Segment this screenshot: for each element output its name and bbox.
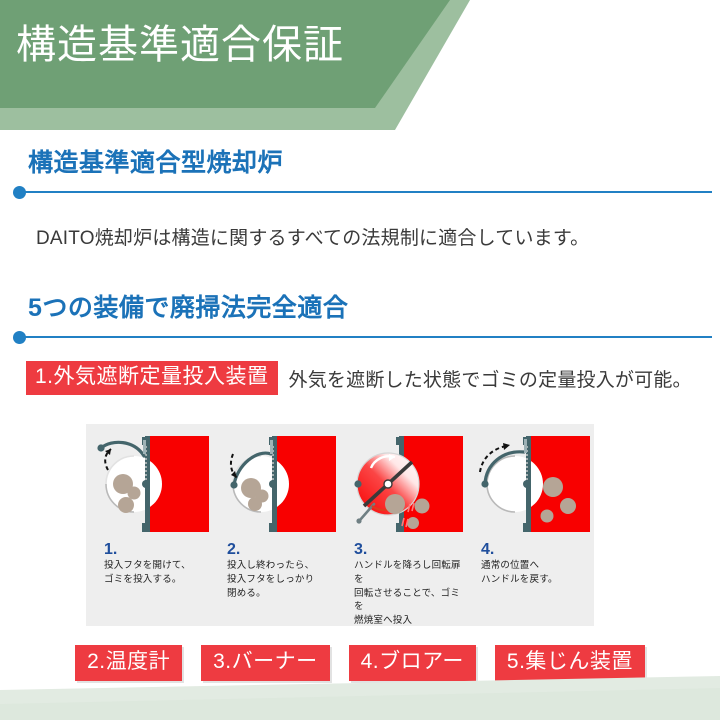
section-1-rule (0, 185, 720, 199)
section-structure-standard: 構造基準適合型焼却炉 DAITO焼却炉は構造に関するすべての法規制に適合していま… (0, 143, 720, 250)
feature-description: 外気を遮断した状態でゴミの定量投入が可能。 (289, 365, 692, 392)
process-step-1: 1. 投入フタを開けて、 ゴミを投入する。 (86, 424, 213, 626)
step-3-illustration (340, 432, 467, 536)
rule-line (24, 336, 712, 338)
header-banner: 構造基準適合保証 (0, 0, 720, 130)
section-2-rule (0, 330, 720, 344)
rule-line (24, 191, 712, 193)
feature-badge[interactable]: 1.外気遮断定量投入装置 (26, 361, 278, 395)
section-2-heading: 5つの装備で廃掃法完全適合 (0, 288, 720, 324)
process-step-2: 2. 投入し終わったら、 投入フタをしっかり 閉める。 (213, 424, 340, 626)
section-1-body: DAITO焼却炉は構造に関するすべての法規制に適合しています。 (0, 223, 720, 250)
page-title: 構造基準適合保証 (16, 22, 344, 68)
step-1-number: 1. (104, 542, 117, 558)
step-3-caption: ハンドルを降ろし回転扉を 回転させることで、ゴミを 燃焼室へ投入 (354, 559, 467, 628)
step-4-number: 4. (481, 542, 494, 558)
section-five-equipment: 5つの装備で廃掃法完全適合 (0, 288, 720, 344)
section-1-heading: 構造基準適合型焼却炉 (0, 143, 720, 179)
step-4-illustration (467, 432, 594, 536)
step-2-illustration (213, 432, 340, 536)
step-2-caption: 投入し終わったら、 投入フタをしっかり 閉める。 (227, 559, 314, 600)
step-4-caption: 通常の位置へ ハンドルを戻す。 (481, 559, 558, 587)
step-1-caption: 投入フタを開けて、 ゴミを投入する。 (104, 559, 191, 587)
step-3-number: 3. (354, 542, 367, 558)
process-step-4: 4. 通常の位置へ ハンドルを戻す。 (467, 424, 594, 626)
feature-badge-row: 1.外気遮断定量投入装置 外気を遮断した状態でゴミの定量投入が可能。 (0, 361, 720, 395)
process-step-3: 3. ハンドルを降ろし回転扉を 回転させることで、ゴミを 燃焼室へ投入 (340, 424, 467, 626)
process-diagram-panel: 1. 投入フタを開けて、 ゴミを投入する。 (86, 424, 594, 626)
step-1-illustration (86, 432, 213, 536)
step-2-number: 2. (227, 542, 240, 558)
footer-wave-decoration (0, 660, 720, 720)
process-steps: 1. 投入フタを開けて、 ゴミを投入する。 (86, 424, 594, 626)
page-root: 構造基準適合保証 構造基準適合型焼却炉 DAITO焼却炉は構造に関するすべての法… (0, 0, 720, 720)
